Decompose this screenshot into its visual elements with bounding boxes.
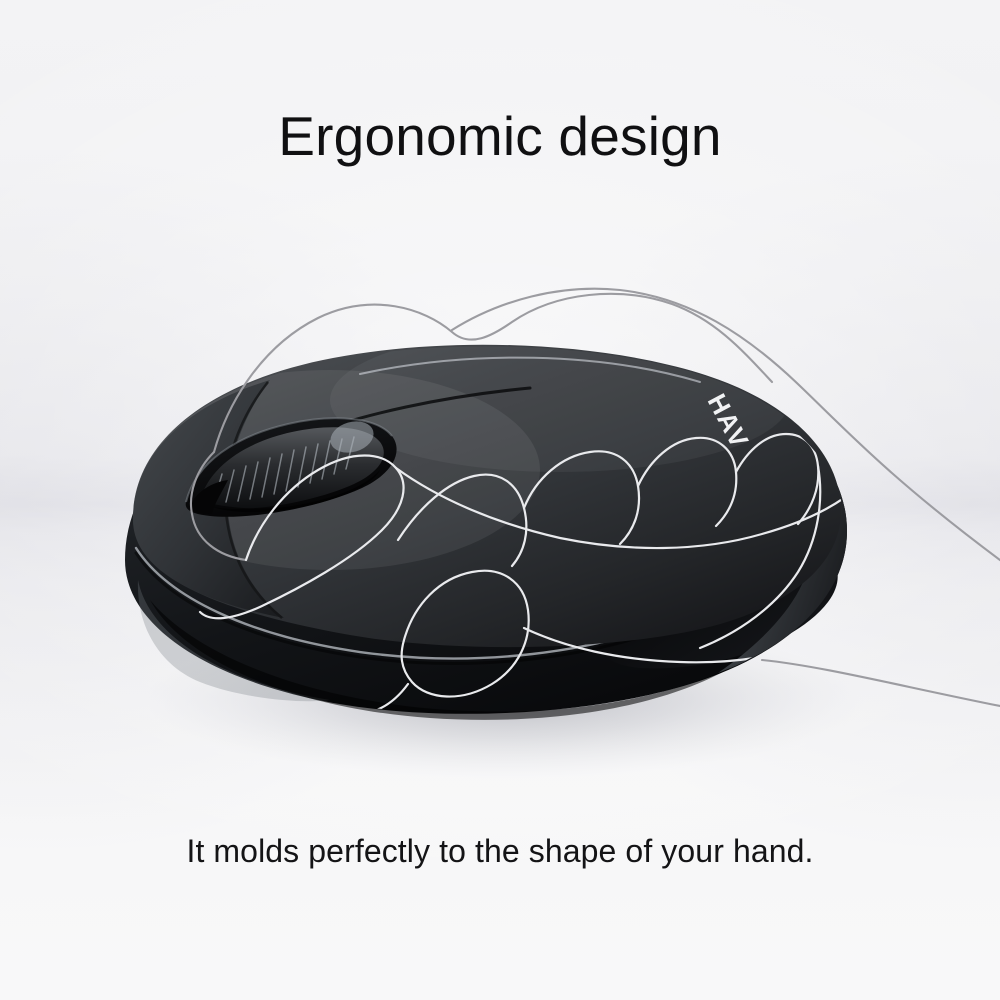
lower-shell-reflection [138,580,330,701]
page-caption: It molds perfectly to the shape of your … [0,833,1000,870]
brand-logo: HAV [702,389,755,454]
top-shell-sheen-2 [330,328,790,472]
scroll-wheel-well-rim [186,418,392,502]
shell-seam-shadow [136,521,812,663]
button-split-line [300,388,530,438]
hand-outline-sketch [191,289,1000,714]
mouse-base-edge [150,600,730,720]
shell-seam-highlight [136,516,812,658]
wheel-well-notch [190,480,228,514]
mouse-lower-shell [125,354,847,714]
scroll-wheel-ribs [214,437,354,502]
product-marketing-slide: HAV [0,0,1000,1000]
sketch-strokes-background [191,289,1000,706]
scroll-wheel-shadow [200,470,380,512]
front-cap-edge [225,382,282,618]
mouse-right-rim [700,381,847,673]
mouse-front-cap [133,380,284,618]
brand-logo-text: HAV [702,389,755,454]
backdrop-horizon [0,455,1000,585]
scroll-wheel-well [186,418,397,517]
scroll-wheel[interactable] [200,427,384,512]
sketch-strokes-on-product [200,434,866,714]
top-shell-sheen [120,370,540,570]
mouse-side-panel [592,511,837,668]
mouse-top-shell [133,345,841,647]
page-title: Ergonomic design [0,106,1000,167]
contact-shadow [145,622,865,778]
side-panel-sheen [620,515,760,580]
scroll-wheel-body [200,427,384,509]
wheel-side-highlight [327,417,378,458]
top-ridge-highlight [360,358,700,382]
